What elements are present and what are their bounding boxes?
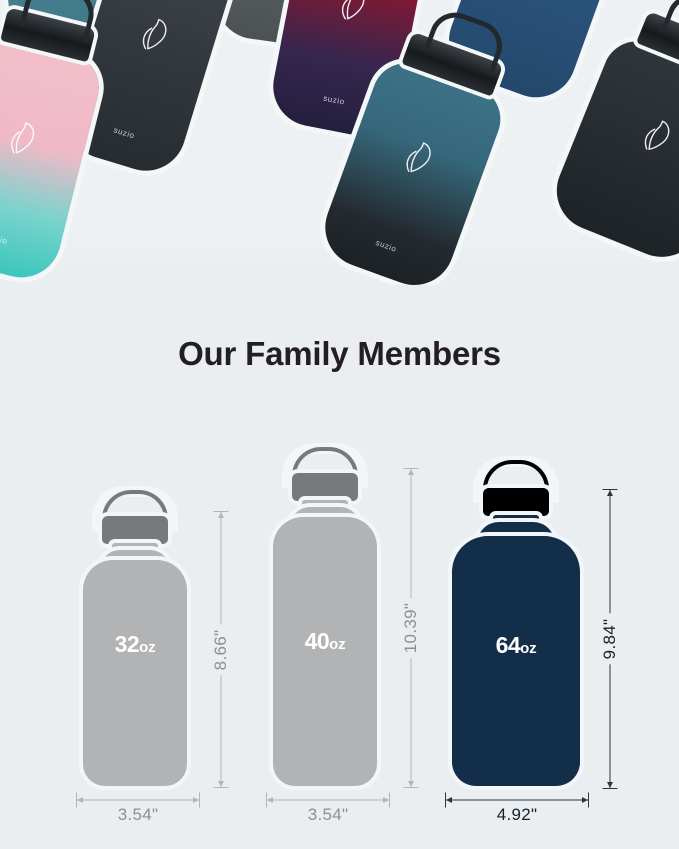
bottle-cap-32oz (102, 516, 168, 544)
size-group-64oz[interactable]: 64oz 9.84" 4.92" (445, 456, 591, 786)
capacity-unit: oz (139, 639, 155, 656)
bottle-silhouette-40oz: 40oz (273, 443, 377, 786)
brand-logo-icon (395, 134, 441, 183)
arrow-left-icon (77, 797, 83, 803)
bottle-silhouette-64oz: 64oz (452, 456, 580, 786)
capacity-number: 32 (115, 631, 140, 657)
bottle-body-64oz (452, 536, 580, 786)
brand-wordmark: suzio (113, 125, 136, 140)
height-value-32oz: 8.66" (208, 624, 234, 675)
dimension-tick-right (588, 793, 589, 808)
width-value-40oz: 3.54" (308, 805, 349, 825)
dimension-line (266, 800, 390, 801)
arrow-right-icon (582, 797, 588, 803)
dimension-tick-right (389, 793, 390, 808)
arrow-left-icon (446, 797, 452, 803)
bottle-cap-64oz (483, 488, 549, 516)
capacity-number: 64 (496, 632, 521, 658)
brand-wordmark: suzio (0, 232, 9, 246)
brand-wordmark: suzio (375, 238, 398, 254)
width-value-32oz: 3.54" (118, 805, 159, 825)
arrow-right-icon (193, 797, 199, 803)
height-value-64oz: 9.84" (597, 614, 623, 665)
bottle-body-32oz (83, 560, 187, 786)
width-value-64oz: 4.92" (497, 805, 538, 825)
arrow-up-icon (408, 469, 414, 475)
size-group-40oz[interactable]: 40oz 10.39" 3.54" (266, 443, 384, 786)
brand-logo-icon (633, 111, 679, 161)
bottle-silhouette-32oz: 32oz (83, 486, 187, 786)
width-dimension-40oz: 3.54" (266, 792, 390, 808)
hero-photo-band: suzio suzio suzio suzio (0, 0, 679, 285)
photo-bottle-pink-ombre: suzio (0, 32, 106, 285)
dimension-line (445, 800, 589, 801)
size-group-32oz[interactable]: 32oz 8.66" 3.54" (76, 486, 194, 786)
capacity-unit: oz (329, 636, 345, 653)
size-comparison-diagram: 32oz 8.66" 3.54" (0, 440, 679, 849)
width-dimension-64oz: 4.92" (445, 792, 589, 808)
capacity-label-64oz: 64oz (452, 632, 580, 659)
capacity-label-40oz: 40oz (273, 628, 377, 655)
arrow-up-icon (607, 490, 613, 496)
brand-logo-icon (332, 0, 373, 27)
brand-logo-icon (132, 11, 176, 59)
arrow-left-icon (267, 797, 273, 803)
page-title: Our Family Members (0, 335, 679, 373)
capacity-label-32oz: 32oz (83, 631, 187, 658)
capacity-unit: oz (520, 640, 536, 657)
brand-logo-icon (1, 115, 44, 162)
width-dimension-32oz: 3.54" (76, 792, 200, 808)
arrow-down-icon (607, 782, 613, 788)
height-value-40oz: 10.39" (398, 598, 424, 658)
arrow-right-icon (383, 797, 389, 803)
brand-logo-icon (513, 0, 559, 10)
height-dimension-32oz: 8.66" (211, 511, 231, 788)
capacity-number: 40 (305, 628, 330, 654)
height-dimension-40oz: 10.39" (401, 468, 421, 788)
bottle-cap-40oz (292, 473, 358, 501)
dimension-tick-bottom (214, 787, 229, 788)
arrow-up-icon (218, 512, 224, 518)
dimension-tick-bottom (603, 788, 618, 789)
dimension-line (76, 800, 200, 801)
dimension-tick-bottom (404, 787, 419, 788)
brand-wordmark: suzio (323, 93, 346, 106)
arrow-down-icon (408, 781, 414, 787)
dimension-tick-right (199, 793, 200, 808)
arrow-down-icon (218, 781, 224, 787)
height-dimension-64oz: 9.84" (600, 489, 620, 789)
